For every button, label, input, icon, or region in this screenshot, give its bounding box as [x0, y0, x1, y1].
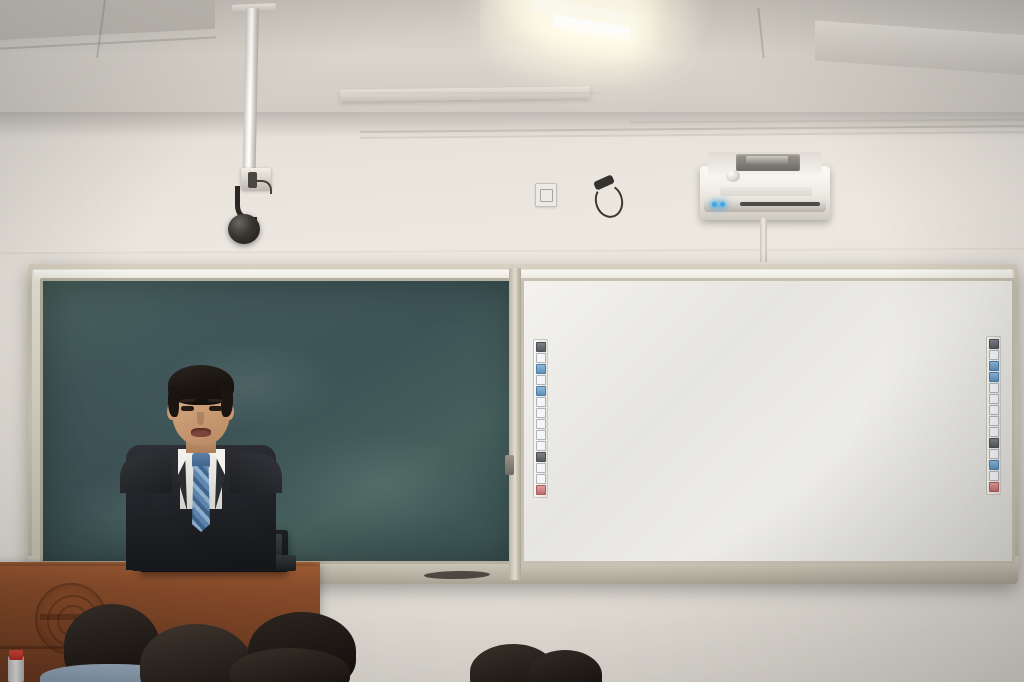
highlighter-icon[interactable]: [989, 361, 999, 371]
arrow-icon[interactable]: [536, 408, 546, 418]
socket-slot: [540, 189, 553, 202]
wall-power-socket: [535, 183, 557, 207]
projector-slot: [740, 202, 820, 206]
chalk-smudge: [283, 431, 483, 541]
wall-mounted-short-throw-projector: [700, 152, 830, 220]
arrow-icon[interactable]: [989, 405, 999, 415]
save-icon[interactable]: [536, 463, 546, 473]
camera-icon[interactable]: [536, 452, 546, 462]
close-icon[interactable]: [989, 482, 999, 492]
projector-power-led: [712, 202, 717, 207]
select-icon[interactable]: [989, 339, 999, 349]
projector-status-led: [720, 202, 725, 207]
board-divider: [509, 268, 521, 580]
nose: [197, 412, 204, 425]
mouth: [191, 428, 211, 437]
interactive-whiteboard[interactable]: 开 学 第 一 课 物理学系第三届团学社: [521, 278, 1015, 564]
close-icon[interactable]: [536, 485, 546, 495]
tie-knot: [192, 453, 210, 468]
redo-icon[interactable]: [536, 441, 546, 451]
redo-icon[interactable]: [989, 438, 999, 448]
settings-icon[interactable]: [536, 474, 546, 484]
undo-icon[interactable]: [989, 427, 999, 437]
select-icon[interactable]: [536, 342, 546, 352]
text-icon[interactable]: [536, 419, 546, 429]
classroom-scene: 开 学 第 一 课 物理学系第三届团学社: [0, 0, 1024, 682]
undo-icon[interactable]: [536, 430, 546, 440]
bottle-cap: [9, 650, 23, 660]
whiteboard-toolbar-left[interactable]: [533, 339, 548, 498]
eraser-icon[interactable]: [989, 372, 999, 382]
projector-focus-knob[interactable]: [726, 170, 740, 182]
eraser-icon[interactable]: [536, 375, 546, 385]
line-icon[interactable]: [536, 397, 546, 407]
hair-side-left: [168, 385, 179, 417]
board-latch[interactable]: [505, 455, 514, 475]
pen-icon[interactable]: [536, 353, 546, 363]
whiteboard-toolbar-right[interactable]: [986, 336, 1001, 495]
highlighter-icon[interactable]: [536, 364, 546, 374]
suit-shoulder-right: [230, 453, 282, 493]
striped-tie: [192, 466, 210, 532]
save-icon[interactable]: [989, 460, 999, 470]
text-icon[interactable]: [989, 416, 999, 426]
eye-left: [181, 406, 194, 411]
camera-icon[interactable]: [989, 449, 999, 459]
suit-shoulder-left: [120, 453, 172, 493]
line-icon[interactable]: [989, 394, 999, 404]
wall-molding: [350, 92, 600, 94]
presenting-student: [120, 365, 280, 570]
projector-mount-arm: [760, 218, 767, 262]
projector-mirror: [746, 156, 788, 164]
projector-vent: [720, 187, 812, 196]
eye-right: [209, 406, 222, 411]
ceiling-camera-ball: [228, 214, 260, 244]
settings-icon[interactable]: [989, 471, 999, 481]
pen-icon[interactable]: [989, 350, 999, 360]
shape-icon[interactable]: [989, 383, 999, 393]
shape-icon[interactable]: [536, 386, 546, 396]
